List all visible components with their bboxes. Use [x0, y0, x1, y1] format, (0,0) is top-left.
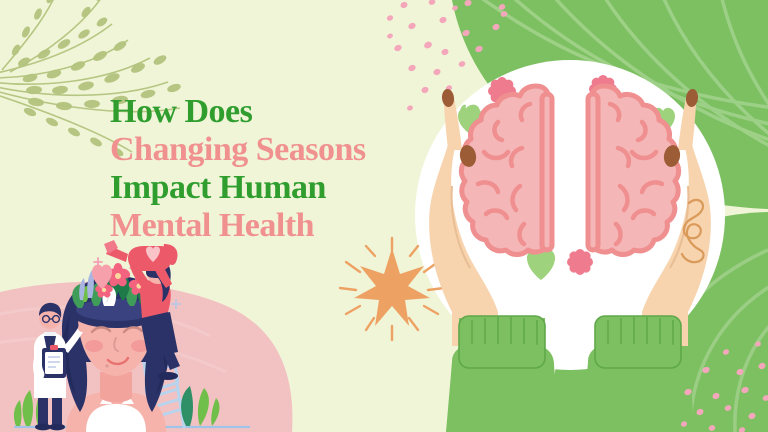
page-title: How Does Changing Seasons Impact Human M… [110, 93, 430, 245]
headline-line-3: Impact Human [110, 169, 430, 207]
headline-line-2: Changing Seasons [110, 131, 430, 169]
headline-line-1: How Does [110, 93, 430, 131]
headline-line-4: Mental Health [110, 207, 430, 245]
poster-canvas: How Does Changing Seasons Impact Human M… [0, 0, 768, 432]
